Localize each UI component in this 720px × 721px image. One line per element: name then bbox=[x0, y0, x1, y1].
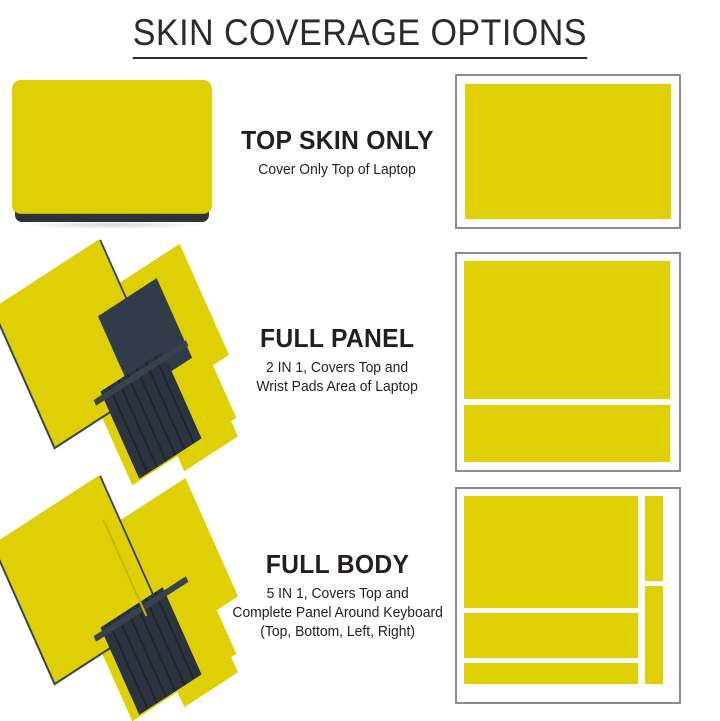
option-subtitle-line: 5 IN 1, Covers Top and bbox=[232, 585, 442, 604]
cut-sheet-top-skin-only bbox=[455, 74, 681, 229]
laptop-illustration-top-skin-only bbox=[0, 66, 235, 238]
option-subtitle: 5 IN 1, Covers Top and Complete Panel Ar… bbox=[232, 585, 442, 642]
option-text-top-skin-only: TOP SKIN ONLY Cover Only Top of Laptop bbox=[230, 66, 445, 238]
laptop-illustration-full-panel bbox=[0, 244, 235, 476]
option-subtitle-line: 2 IN 1, Covers Top and bbox=[257, 359, 418, 378]
option-subtitle: Cover Only Top of Laptop bbox=[259, 161, 417, 180]
option-title: FULL PANEL bbox=[260, 323, 414, 353]
option-subtitle: 2 IN 1, Covers Top and Wrist Pads Area o… bbox=[257, 359, 418, 397]
option-row-top-skin-only: TOP SKIN ONLY Cover Only Top of Laptop bbox=[0, 66, 720, 238]
cut-sheet-full-panel bbox=[455, 252, 681, 472]
option-subtitle-line: (Top, Bottom, Left, Right) bbox=[232, 623, 442, 642]
cut-sheet-full-body bbox=[455, 487, 681, 704]
laptop-lid-skin bbox=[12, 80, 212, 213]
option-text-full-panel: FULL PANEL 2 IN 1, Covers Top and Wrist … bbox=[230, 244, 445, 476]
skin-piece-top-lid bbox=[464, 261, 670, 399]
option-row-full-body: FULL BODY 5 IN 1, Covers Top and Complet… bbox=[0, 480, 720, 710]
option-title: FULL BODY bbox=[266, 549, 409, 579]
skin-piece-top-lid bbox=[465, 84, 671, 219]
option-subtitle-line: Wrist Pads Area of Laptop bbox=[257, 378, 418, 397]
skin-piece-right-strip-bottom bbox=[645, 586, 663, 684]
option-row-full-panel: FULL PANEL 2 IN 1, Covers Top and Wrist … bbox=[0, 244, 720, 476]
laptop-illustration-full-body bbox=[0, 480, 235, 710]
open-laptop-icon bbox=[6, 250, 231, 470]
option-text-full-body: FULL BODY 5 IN 1, Covers Top and Complet… bbox=[230, 480, 445, 710]
skin-piece-wrist-pad bbox=[464, 405, 670, 462]
skin-piece-wrist-pad bbox=[464, 613, 638, 658]
skin-piece-right-strip-top bbox=[645, 496, 663, 581]
laptop-shadow bbox=[22, 221, 204, 229]
closed-laptop-icon bbox=[12, 80, 212, 222]
open-laptop-icon bbox=[6, 486, 231, 706]
page-header: SKIN COVERAGE OPTIONS bbox=[0, 12, 720, 59]
option-subtitle-line: Complete Panel Around Keyboard bbox=[232, 604, 442, 623]
option-subtitle-line: Cover Only Top of Laptop bbox=[259, 161, 417, 180]
option-title: TOP SKIN ONLY bbox=[241, 125, 434, 155]
skin-piece-top-lid bbox=[464, 496, 638, 608]
skin-piece-bottom-strip bbox=[464, 663, 638, 684]
page-title: SKIN COVERAGE OPTIONS bbox=[133, 12, 587, 59]
